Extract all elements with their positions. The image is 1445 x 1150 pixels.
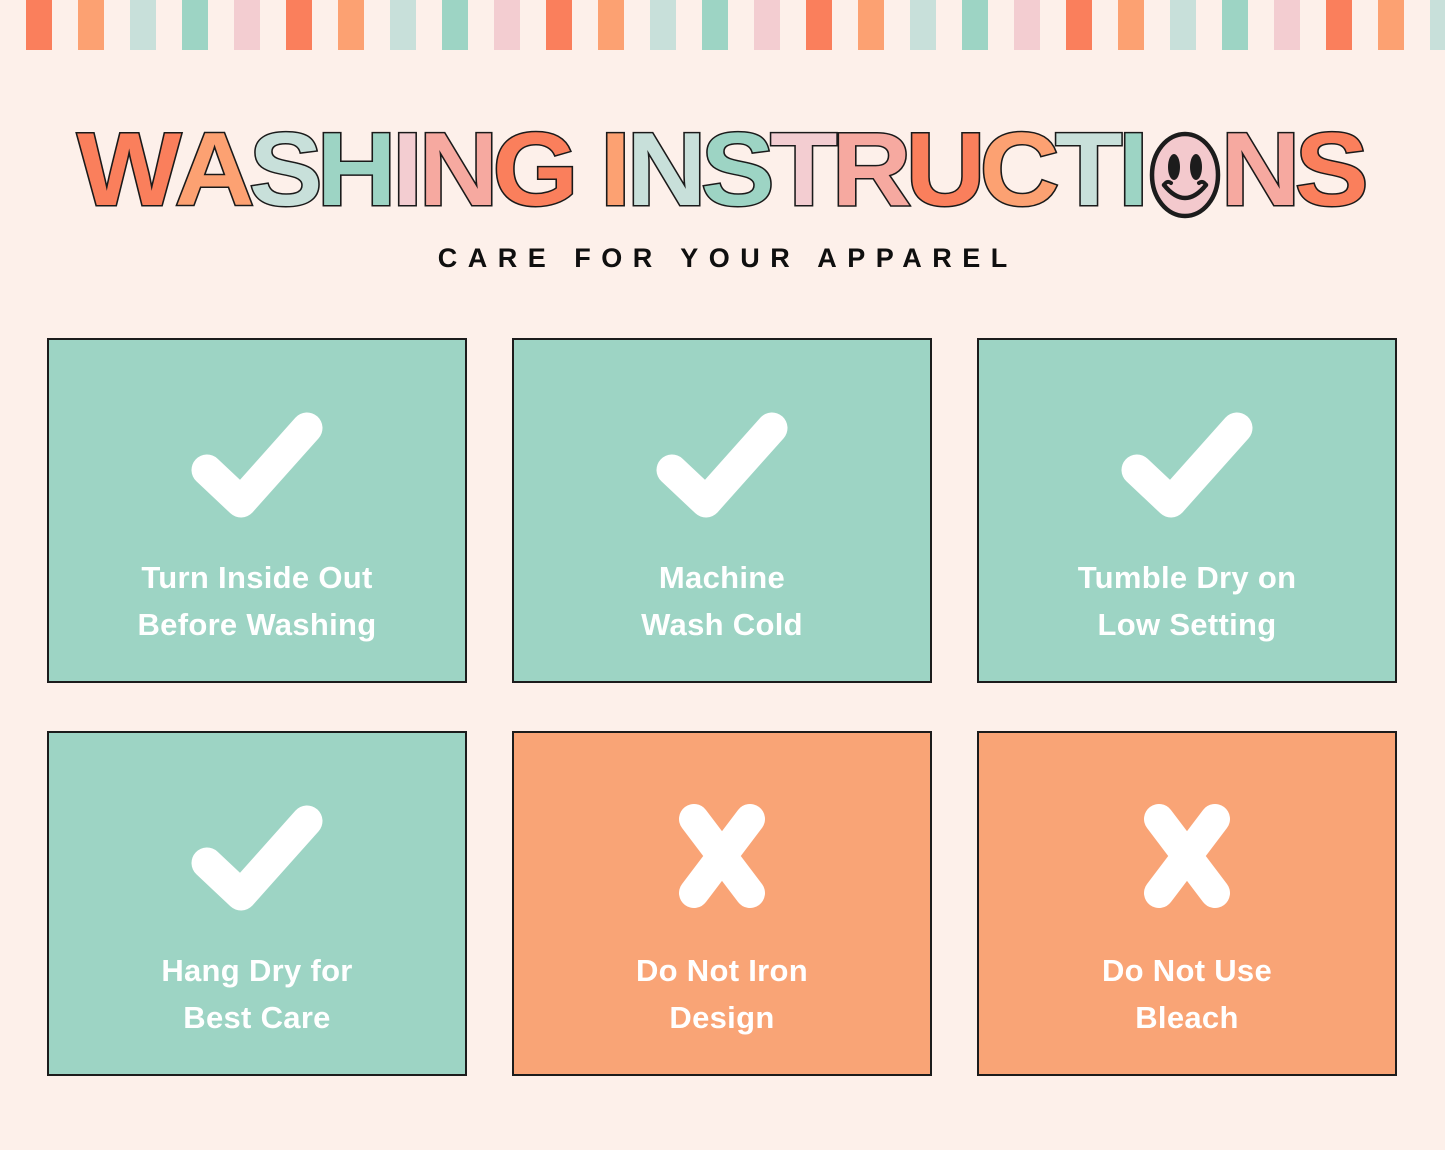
- stripe-gap: [1404, 0, 1430, 50]
- stripe: [1170, 0, 1196, 50]
- title-letter: H: [317, 118, 396, 222]
- stripe: [962, 0, 988, 50]
- stripe: [1066, 0, 1092, 50]
- stripe: [286, 0, 312, 50]
- stripe: [338, 0, 364, 50]
- stripe: [1326, 0, 1352, 50]
- stripe-gap: [1040, 0, 1066, 50]
- stripe: [1430, 0, 1445, 50]
- stripe-gap: [572, 0, 598, 50]
- stripe-gap: [1144, 0, 1170, 50]
- instruction-card-grid: Turn Inside OutBefore WashingMachineWash…: [47, 338, 1398, 1076]
- check-icon: [189, 801, 325, 911]
- stripe: [910, 0, 936, 50]
- title-letter: T: [770, 118, 836, 222]
- instruction-card-line2: Design: [636, 994, 808, 1041]
- stripe-gap: [208, 0, 234, 50]
- check-icon: [189, 408, 325, 518]
- stripe-gap: [1196, 0, 1222, 50]
- instruction-card-line2: Low Setting: [1078, 601, 1297, 648]
- instruction-card-line2: Best Care: [161, 994, 352, 1041]
- stripe: [1274, 0, 1300, 50]
- stripe-gap: [832, 0, 858, 50]
- instruction-card: Do Not UseBleach: [977, 731, 1397, 1076]
- stripe: [442, 0, 468, 50]
- title-letter: W: [77, 118, 180, 222]
- instruction-card: Do Not IronDesign: [512, 731, 932, 1076]
- page-title: WASHINGINSTRUCTINS: [0, 118, 1445, 222]
- check-icon: [654, 408, 790, 518]
- title-letter: S: [249, 118, 321, 222]
- stripe-gap: [520, 0, 546, 50]
- stripe: [26, 0, 52, 50]
- stripe: [598, 0, 624, 50]
- title-letter: T: [1055, 118, 1121, 222]
- stripe: [650, 0, 676, 50]
- stripe-gap: [260, 0, 286, 50]
- instruction-card-line1: Do Not Iron: [636, 953, 808, 988]
- stripe-gap: [156, 0, 182, 50]
- cross-icon: [654, 801, 790, 911]
- smiley-face-icon: [1148, 129, 1222, 221]
- instruction-card-line1: Machine: [659, 560, 785, 595]
- page-subtitle: CARE FOR YOUR APPAREL: [0, 243, 1445, 274]
- stripe-gap: [884, 0, 910, 50]
- stripe-gap: [1300, 0, 1326, 50]
- stripe-gap: [1352, 0, 1378, 50]
- instruction-card-label: Do Not UseBleach: [1102, 947, 1272, 1041]
- title-letter: I: [392, 118, 422, 222]
- page-title-text: WASHINGINSTRUCTINS: [80, 118, 1366, 222]
- instruction-card-line1: Hang Dry for: [161, 953, 352, 988]
- title-letter: A: [175, 118, 254, 222]
- stripe: [1222, 0, 1248, 50]
- instruction-card-line1: Do Not Use: [1102, 953, 1272, 988]
- stripe: [1014, 0, 1040, 50]
- instruction-card-line2: Bleach: [1102, 994, 1272, 1041]
- title-letter: S: [1295, 118, 1367, 222]
- title-letter: N: [1221, 118, 1300, 222]
- instruction-card-label: Do Not IronDesign: [636, 947, 808, 1041]
- check-icon: [1119, 408, 1255, 518]
- stripe-gap: [104, 0, 130, 50]
- stripe: [1378, 0, 1404, 50]
- stripe-gap: [52, 0, 78, 50]
- title-letter: N: [419, 118, 498, 222]
- cross-icon: [1119, 801, 1255, 911]
- title-letter: S: [701, 118, 773, 222]
- stripe: [390, 0, 416, 50]
- instruction-card-line1: Tumble Dry on: [1078, 560, 1297, 595]
- stripe: [234, 0, 260, 50]
- stripe: [182, 0, 208, 50]
- decorative-stripe-band: [0, 0, 1445, 50]
- stripe-gap: [780, 0, 806, 50]
- instruction-card-label: Tumble Dry onLow Setting: [1078, 554, 1297, 648]
- stripe: [494, 0, 520, 50]
- stripe: [754, 0, 780, 50]
- stripe-gap: [1092, 0, 1118, 50]
- stripe-gap: [0, 0, 26, 50]
- stripe-gap: [936, 0, 962, 50]
- instruction-card: MachineWash Cold: [512, 338, 932, 683]
- stripe-gap: [416, 0, 442, 50]
- washing-instructions-poster: WASHINGINSTRUCTINS CARE FOR YOUR APPAREL…: [0, 0, 1445, 1150]
- stripe-gap: [624, 0, 650, 50]
- title-letter: R: [832, 118, 911, 222]
- instruction-card-label: Turn Inside OutBefore Washing: [137, 554, 376, 648]
- instruction-card-line2: Wash Cold: [641, 601, 803, 648]
- stripe-gap: [1248, 0, 1274, 50]
- stripe: [546, 0, 572, 50]
- stripe: [806, 0, 832, 50]
- stripe: [702, 0, 728, 50]
- title-letter: U: [906, 118, 985, 222]
- title-letter: I: [1118, 118, 1148, 222]
- instruction-card-label: MachineWash Cold: [641, 554, 803, 648]
- instruction-card-line1: Turn Inside Out: [141, 560, 372, 595]
- stripe-gap: [312, 0, 338, 50]
- instruction-card-line2: Before Washing: [137, 601, 376, 648]
- stripe: [78, 0, 104, 50]
- title-letter: N: [627, 118, 706, 222]
- instruction-card: Turn Inside OutBefore Washing: [47, 338, 467, 683]
- title-letter: I: [600, 118, 630, 222]
- title-letter: G: [493, 118, 578, 222]
- stripe-gap: [468, 0, 494, 50]
- stripe-gap: [676, 0, 702, 50]
- stripe-gap: [364, 0, 390, 50]
- stripe: [130, 0, 156, 50]
- stripe-gap: [728, 0, 754, 50]
- stripe: [1118, 0, 1144, 50]
- instruction-card: Hang Dry forBest Care: [47, 731, 467, 1076]
- stripe-gap: [988, 0, 1014, 50]
- title-letter: C: [980, 118, 1059, 222]
- instruction-card-label: Hang Dry forBest Care: [161, 947, 352, 1041]
- instruction-card: Tumble Dry onLow Setting: [977, 338, 1397, 683]
- stripe: [858, 0, 884, 50]
